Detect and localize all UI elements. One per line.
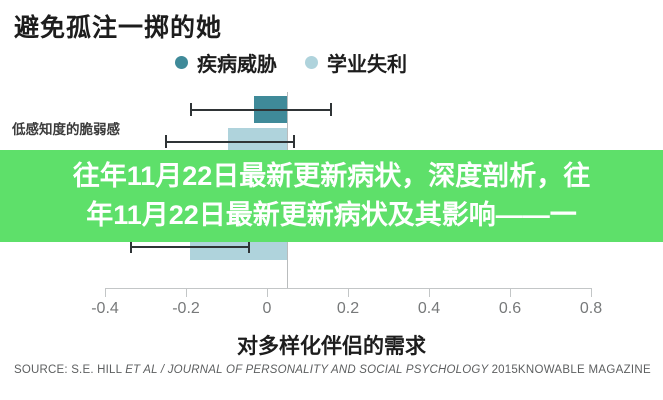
group-label-low-vulnerability: 低感知度的脆弱感 <box>12 118 120 138</box>
brand-label: KNOWABLE MAGAZINE <box>518 364 651 376</box>
legend-label: 学业失利 <box>327 48 407 77</box>
axis-tick-label: -0.4 <box>91 300 119 318</box>
error-cap-right <box>330 103 332 116</box>
source-prefix: SOURCE: S.E. HILL <box>14 364 125 376</box>
x-axis-title: 对多样化伴侣的需求 <box>0 330 663 360</box>
legend-item-disease-threat[interactable]: 疾病威胁 <box>175 48 277 77</box>
error-bar-high-academic-failure <box>130 246 250 248</box>
source-credit: SOURCE: S.E. HILL ET AL / JOURNAL OF PER… <box>14 364 518 376</box>
axis-tick-label: 0.4 <box>418 300 440 318</box>
axis-tick <box>591 288 592 297</box>
axis-tick-label: 0 <box>263 300 272 318</box>
source-year: 2015 <box>492 364 518 376</box>
legend-swatch-icon <box>305 56 318 69</box>
error-bar-low-disease-threat <box>190 109 332 111</box>
x-axis: -0.4 -0.2 0 0.2 0.4 0.6 0.8 <box>0 288 663 334</box>
axis-tick-label: 0.2 <box>337 300 359 318</box>
overlay-banner: 往年11月22日最新更新病状，深度剖析，往 年11月22日最新更新病状及其影响—… <box>0 150 663 242</box>
legend-label: 疾病威胁 <box>197 48 277 77</box>
axis-tick <box>186 288 187 297</box>
axis-tick <box>105 288 106 297</box>
legend-swatch-icon <box>175 56 188 69</box>
axis-tick-label: 0.8 <box>580 300 602 318</box>
axis-tick <box>267 288 268 297</box>
error-cap-left <box>190 103 192 116</box>
screenshot-root: 避免孤注一掷的她 疾病威胁 学业失利 低感知度的脆弱感 高感知度的脆弱感 <box>0 0 663 400</box>
axis-tick-label: 0.6 <box>499 300 521 318</box>
axis-tick <box>429 288 430 297</box>
error-bar-low-academic-failure <box>165 141 295 143</box>
chart-footer: SOURCE: S.E. HILL ET AL / JOURNAL OF PER… <box>0 364 663 386</box>
axis-tick <box>510 288 511 297</box>
page-title: 避免孤注一掷的她 <box>14 8 222 44</box>
source-journal: ET AL / JOURNAL OF PERSONALITY AND SOCIA… <box>125 364 491 376</box>
axis-tick-label: -0.2 <box>172 300 200 318</box>
chart-legend: 疾病威胁 学业失利 <box>175 48 407 77</box>
overlay-headline-line-2: 年11月22日最新更新病状及其影响——一 <box>86 196 577 235</box>
overlay-headline-line-1: 往年11月22日最新更新病状，深度剖析，往 <box>73 157 591 196</box>
error-cap-right <box>293 135 295 148</box>
legend-item-academic-failure[interactable]: 学业失利 <box>305 48 407 77</box>
error-cap-left <box>165 135 167 148</box>
axis-tick <box>348 288 349 297</box>
